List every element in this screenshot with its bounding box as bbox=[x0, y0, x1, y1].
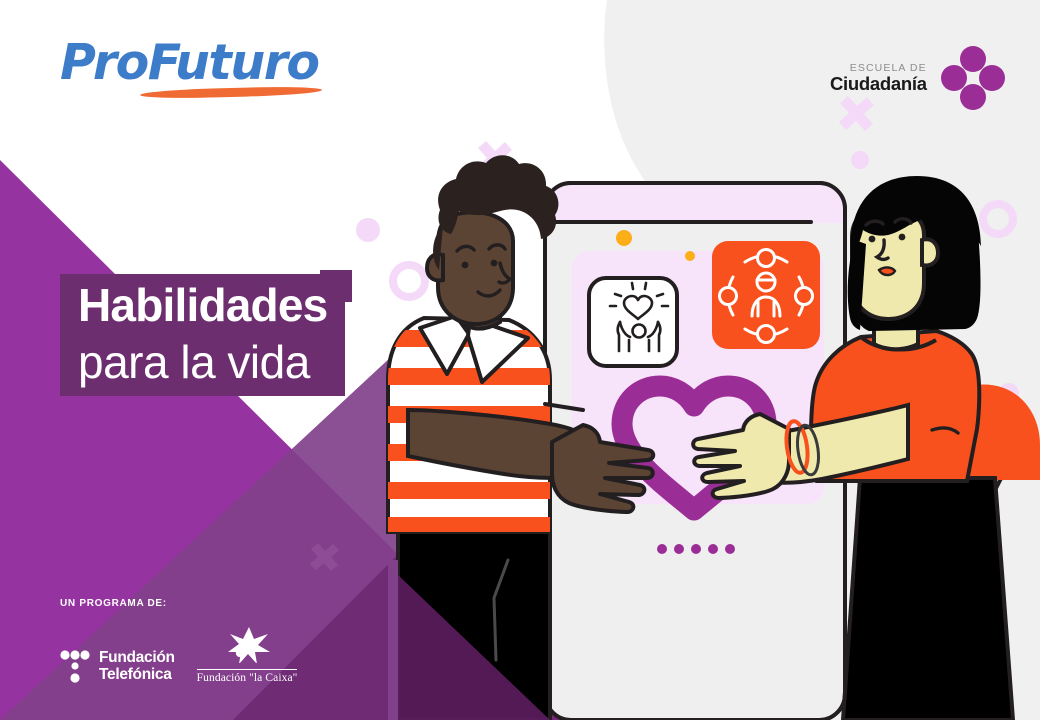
woman-eye-right bbox=[899, 234, 906, 241]
lacaixa-wordmark: Fundación "la Caixa" bbox=[197, 669, 298, 684]
title-line-1: Habilidades bbox=[60, 274, 345, 335]
telefonica-dots-icon bbox=[60, 650, 90, 684]
profuturo-logo[interactable]: ProFuturo bbox=[60, 38, 330, 106]
fundacion-telefonica-logo[interactable]: Fundación Telefónica bbox=[60, 650, 175, 684]
nurture-heart-card bbox=[589, 278, 677, 366]
woman-skirt bbox=[843, 478, 1013, 720]
woman-mouth bbox=[879, 267, 895, 275]
escuela-logo-text: ESCUELA DE Ciudadanía bbox=[830, 63, 927, 93]
sponsors-block: UN PROGRAMA DE: Fundación Telefónica bbox=[60, 598, 320, 684]
page-title: Habilidades para la vida bbox=[60, 274, 345, 396]
accent-dot-large bbox=[616, 230, 632, 246]
man-eye-left bbox=[462, 262, 469, 269]
purple-overlay-left-edge bbox=[388, 560, 398, 720]
sponsor-logo-row: Fundación Telefónica Fundación "la Caixa… bbox=[60, 625, 320, 684]
title-line-2: para la vida bbox=[60, 334, 345, 397]
escuela-name: Ciudadanía bbox=[830, 74, 927, 93]
sponsors-kicker: UN PROGRAMA DE: bbox=[60, 598, 320, 609]
telefonica-line-2: Telefónica bbox=[99, 667, 175, 684]
man-eye-right bbox=[491, 260, 498, 267]
telefonica-line-1: Fundación bbox=[99, 650, 175, 667]
accent-dot-small bbox=[685, 251, 695, 261]
woman-ear bbox=[922, 239, 938, 265]
woman-eye-left bbox=[869, 236, 876, 243]
profuturo-wordmark: ProFuturo bbox=[60, 38, 330, 87]
lacaixa-star-icon bbox=[219, 625, 275, 663]
fundacion-la-caixa-logo[interactable]: Fundación "la Caixa" bbox=[197, 625, 298, 684]
poster-canvas: ProFuturo ESCUELA DE Ciudadanía Habilida… bbox=[0, 0, 1040, 720]
four-circle-flower-icon bbox=[941, 46, 1005, 110]
telefonica-wordmark: Fundación Telefónica bbox=[99, 650, 175, 683]
person-network-card bbox=[712, 241, 820, 349]
escuela-de-ciudadania-logo[interactable]: ESCUELA DE Ciudadanía bbox=[830, 46, 1005, 110]
